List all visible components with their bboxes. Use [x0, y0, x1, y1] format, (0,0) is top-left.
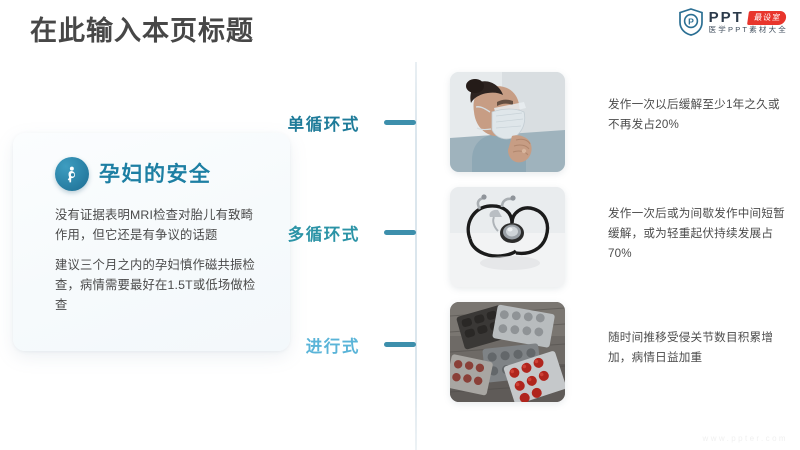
timeline-description-2: 发作一次后或为间歇发作中间短暂缓解，或为轻重起伏持续发展占70% [608, 204, 788, 264]
card-paragraph: 建议三个月之内的孕妇慎作磁共振检查，病情需要最好在1.5T或低场做检查 [55, 256, 263, 316]
timeline-description-1: 发作一次以后缓解至少1年之久或不再发占20% [608, 95, 788, 135]
timeline-label-1: 单循环式 [288, 117, 360, 134]
logo-brand-text: PPT [709, 10, 744, 25]
logo-badge: 最设室 [747, 11, 787, 25]
pregnancy-safety-card: 孕妇的安全 没有证据表明MRI检查对胎儿有致畸作用，但它还是有争议的话题 建议三… [13, 133, 290, 351]
card-paragraph: 没有证据表明MRI检查对胎儿有致畸作用，但它还是有争议的话题 [55, 206, 263, 246]
timeline-dash-1 [384, 120, 416, 125]
timeline-dash-2 [384, 230, 416, 235]
card-header: 孕妇的安全 [55, 157, 212, 191]
page-title: 在此输入本页标题 [30, 18, 254, 45]
site-watermark: www.ppter.com [703, 434, 788, 443]
card-title: 孕妇的安全 [99, 164, 212, 185]
timeline-description-3: 随时间推移受侵关节数目积累增加，病情日益加重 [608, 328, 788, 368]
card-body: 没有证据表明MRI检查对胎儿有致畸作用，但它还是有争议的话题 建议三个月之内的孕… [55, 206, 263, 316]
logo-subtitle: 医学PPT素材大全 [709, 26, 788, 34]
svg-text:P: P [688, 17, 694, 27]
brand-logo: P PPT 最设室 医学PPT素材大全 [678, 8, 788, 36]
stethoscope-photo [450, 187, 565, 287]
slide-canvas: 在此输入本页标题 P PPT 最设室 医学PPT素材大全 [0, 0, 800, 450]
timeline-label-3: 进行式 [306, 339, 360, 356]
pill-blister-packs-photo [450, 302, 565, 402]
pregnant-woman-icon [55, 157, 89, 191]
woman-wearing-face-mask-photo [450, 72, 565, 172]
shield-p-icon: P [678, 8, 704, 36]
timeline-label-2: 多循环式 [288, 227, 360, 244]
timeline-dash-3 [384, 342, 416, 347]
